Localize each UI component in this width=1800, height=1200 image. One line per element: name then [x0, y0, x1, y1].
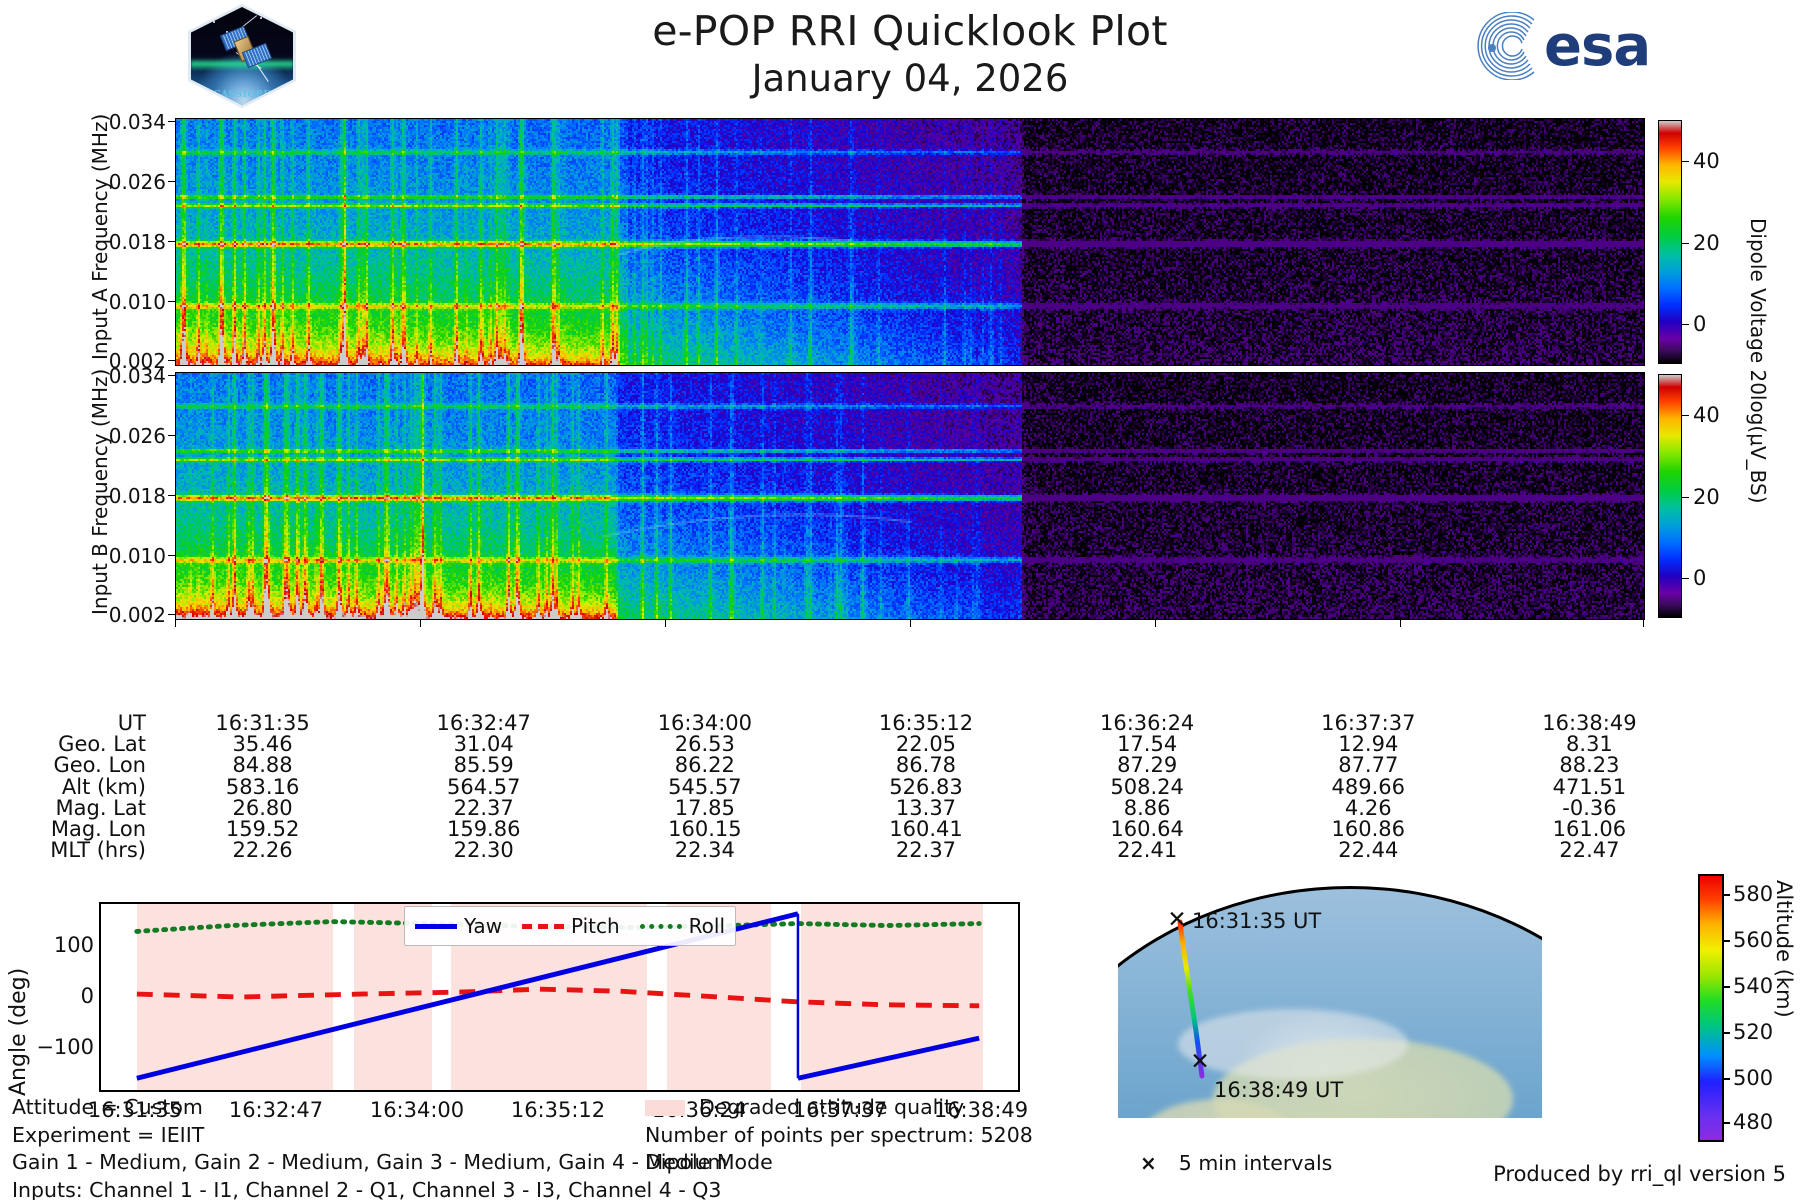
cell: 564.57 — [373, 777, 594, 798]
legend-item-roll: Roll — [640, 914, 725, 938]
cell: 86.22 — [594, 755, 815, 776]
row-label: Geo. Lat — [0, 734, 152, 755]
cell: 16:34:00 — [594, 713, 815, 734]
attitude-ylabel: Angle (deg) — [6, 900, 31, 1096]
produced-by-label: Produced by rri_ql version 5 — [1493, 1162, 1786, 1186]
cell: 87.29 — [1037, 755, 1258, 776]
cell: 22.34 — [594, 840, 815, 861]
pitch-line-icon — [522, 924, 564, 929]
altitude-colorbar[interactable]: 580 560 540 520 500 480 — [1698, 874, 1724, 1142]
cell: 85.59 — [373, 755, 594, 776]
cell: 22.05 — [815, 734, 1036, 755]
row-label: UT — [0, 713, 152, 734]
cell: 22.30 — [373, 840, 594, 861]
cell: 16:38:49 — [1479, 713, 1700, 734]
cell: 160.64 — [1037, 819, 1258, 840]
footer-points: Number of points per spectrum: 5208 — [645, 1122, 1033, 1150]
footer-gains: Gain 1 - Medium, Gain 2 - Medium, Gain 3… — [12, 1149, 727, 1177]
footer-left-block: Attitude = Custom Experiment = IEIIT Gai… — [12, 1094, 727, 1200]
table-row: Geo. Lat 35.46 31.04 26.53 22.05 17.54 1… — [0, 734, 1700, 755]
row-label: Mag. Lon — [0, 819, 152, 840]
title-line: e-POP RRI Quicklook Plot — [560, 6, 1260, 56]
table-row: Alt (km) 583.16 564.57 545.57 526.83 508… — [0, 777, 1700, 798]
altitude-colorbar-title: Altitude (km) — [1772, 880, 1796, 1138]
cell: 159.86 — [373, 819, 594, 840]
footer-inputs: Inputs: Channel 1 - I1, Channel 2 - Q1, … — [12, 1177, 727, 1200]
degraded-legend-row: Degraded attitude quality — [645, 1094, 1033, 1122]
cell: 12.94 — [1258, 734, 1479, 755]
esa-wordmark: esa — [1544, 14, 1650, 79]
cell: 22.37 — [373, 798, 594, 819]
cell: 489.66 — [1258, 777, 1479, 798]
colorbar-title: Dipole Voltage 20log(μV_BS) — [1746, 218, 1770, 538]
esa-swirl-icon — [1472, 12, 1542, 80]
cell: 545.57 — [594, 777, 815, 798]
legend-label: Yaw — [464, 914, 502, 938]
yaw-series-2 — [798, 1038, 979, 1078]
cassiope-mission-patch: CASSIOPE — [188, 4, 296, 108]
cell: -0.36 — [1479, 798, 1700, 819]
cell: 22.47 — [1479, 840, 1700, 861]
cell: 16:37:37 — [1258, 713, 1479, 734]
cell: 4.26 — [1258, 798, 1479, 819]
table-row: UT 16:31:35 16:32:47 16:34:00 16:35:12 1… — [0, 713, 1700, 734]
end-time-label: 16:38:49 UT — [1214, 1078, 1343, 1102]
cell: 160.41 — [815, 819, 1036, 840]
legend-item-pitch: Pitch — [522, 914, 620, 938]
ground-track-map[interactable]: ✕ 16:31:35 UT ✕ 16:38:49 UT — [1118, 886, 1542, 1118]
pitch-series — [137, 989, 979, 1006]
patch-label: CASSIOPE — [191, 90, 293, 100]
cell: 87.77 — [1258, 755, 1479, 776]
cell: 17.54 — [1037, 734, 1258, 755]
cell: 508.24 — [1037, 777, 1258, 798]
start-marker-icon: ✕ — [1167, 907, 1186, 933]
yaw-line-icon — [415, 924, 457, 929]
footer-experiment: Experiment = IEIIT — [12, 1122, 727, 1150]
cell: 526.83 — [815, 777, 1036, 798]
row-label: Geo. Lon — [0, 755, 152, 776]
row-label: Alt (km) — [0, 777, 152, 798]
cross-marker-icon: × — [1140, 1151, 1157, 1175]
start-time-label: 16:31:35 UT — [1192, 909, 1321, 933]
table-row: MLT (hrs) 22.26 22.30 22.34 22.37 22.41 … — [0, 840, 1700, 861]
cell: 160.15 — [594, 819, 815, 840]
footer-mode: Dipole Mode — [645, 1149, 1033, 1177]
roll-line-icon — [640, 924, 682, 929]
spectrogram-b-panel[interactable] — [175, 372, 1645, 620]
cell: 16:35:12 — [815, 713, 1036, 734]
cell: 16:31:35 — [152, 713, 373, 734]
row-label: MLT (hrs) — [0, 840, 152, 861]
cell: 8.86 — [1037, 798, 1258, 819]
row-label: Mag. Lat — [0, 798, 152, 819]
cell: 16:32:47 — [373, 713, 594, 734]
title-date: January 04, 2026 — [560, 56, 1260, 102]
time-axis-tickmarks — [175, 620, 1645, 630]
end-marker-icon: ✕ — [1190, 1049, 1209, 1075]
cell: 161.06 — [1479, 819, 1700, 840]
cell: 160.86 — [1258, 819, 1479, 840]
cell: 22.37 — [815, 840, 1036, 861]
cell: 583.16 — [152, 777, 373, 798]
five-min-label: 5 min intervals — [1179, 1151, 1333, 1175]
footer-mid-block: Degraded attitude quality Number of poin… — [645, 1094, 1033, 1177]
patch-inner-art: CASSIOPE — [191, 7, 293, 105]
cell: 22.41 — [1037, 840, 1258, 861]
legend-label: Pitch — [571, 914, 620, 938]
five-min-interval-legend: ×5 min intervals — [1140, 1151, 1332, 1175]
ephemeris-table: UT 16:31:35 16:32:47 16:34:00 16:35:12 1… — [0, 713, 1700, 861]
legend-label: Roll — [689, 914, 725, 938]
table-row: Mag. Lat 26.80 22.37 17.85 13.37 8.86 4.… — [0, 798, 1700, 819]
dipole-voltage-colorbar-b[interactable]: 40 20 0 — [1658, 374, 1682, 618]
cell: 88.23 — [1479, 755, 1700, 776]
cell: 86.78 — [815, 755, 1036, 776]
cell: 8.31 — [1479, 734, 1700, 755]
table-row: Mag. Lon 159.52 159.86 160.15 160.41 160… — [0, 819, 1700, 840]
cell: 22.26 — [152, 840, 373, 861]
esa-logo: esa — [1472, 12, 1678, 80]
cell: 26.80 — [152, 798, 373, 819]
degraded-legend-label: Degraded attitude quality — [699, 1095, 964, 1119]
attitude-yticks: 100 0 −100 — [30, 900, 94, 1096]
cell: 16:36:24 — [1037, 713, 1258, 734]
page-title: e-POP RRI Quicklook Plot January 04, 202… — [560, 6, 1260, 102]
cell: 159.52 — [152, 819, 373, 840]
footer-attitude: Attitude = Custom — [12, 1094, 727, 1122]
legend-item-yaw: Yaw — [415, 914, 502, 938]
cell: 35.46 — [152, 734, 373, 755]
cell: 17.85 — [594, 798, 815, 819]
cell: 84.88 — [152, 755, 373, 776]
spectrogram-a-panel[interactable] — [175, 118, 1645, 366]
dipole-voltage-colorbar-a[interactable]: 40 20 0 — [1658, 120, 1682, 364]
spectrogram-a-yticks: 0.034 0.026 0.018 0.010 0.002 — [106, 118, 166, 363]
degraded-swatch-icon — [645, 1100, 685, 1116]
cell: 471.51 — [1479, 777, 1700, 798]
cell: 26.53 — [594, 734, 815, 755]
cell: 13.37 — [815, 798, 1036, 819]
spectrogram-b-yticks: 0.034 0.026 0.018 0.010 0.002 — [106, 372, 166, 617]
cell: 31.04 — [373, 734, 594, 755]
cell: 22.44 — [1258, 840, 1479, 861]
table-row: Geo. Lon 84.88 85.59 86.22 86.78 87.29 8… — [0, 755, 1700, 776]
attitude-legend[interactable]: Yaw Pitch Roll — [404, 906, 736, 946]
